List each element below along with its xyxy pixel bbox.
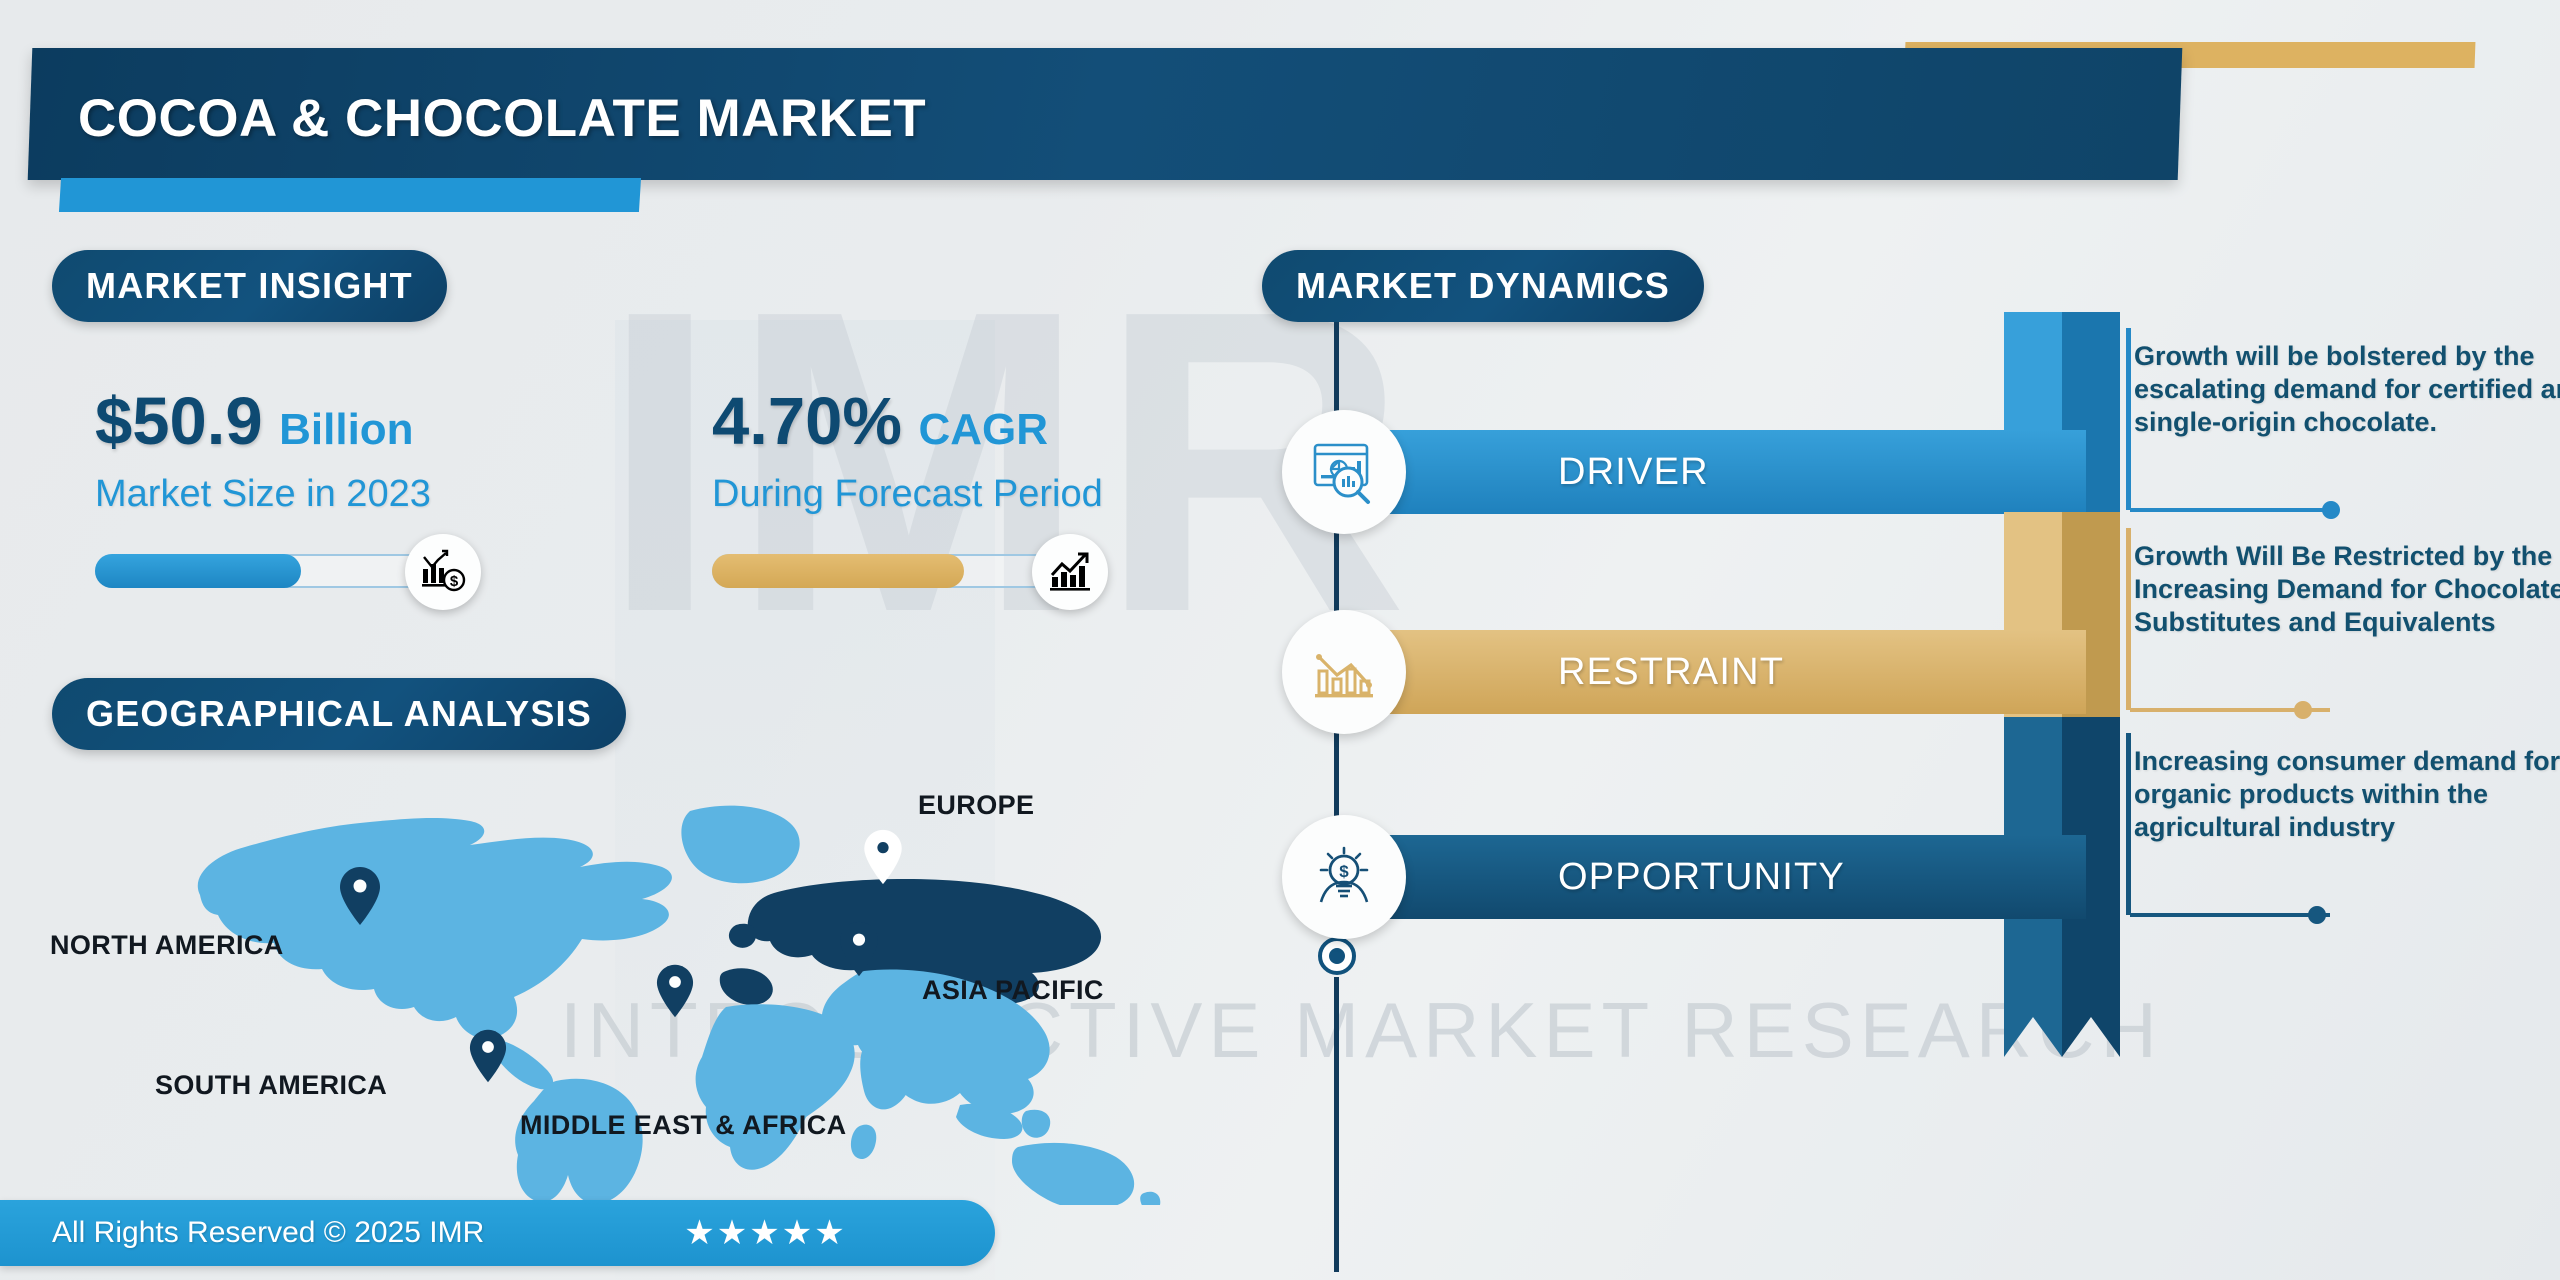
map-label-north-america: NORTH AMERICA [50, 930, 284, 961]
opportunity-description: Increasing consumer demand for organic p… [2134, 745, 2554, 844]
opportunity-underline [2130, 913, 2330, 917]
title-blue-accent [59, 178, 641, 212]
restraint-label: RESTRAINT [1558, 651, 1784, 694]
driver-line: single-origin chocolate. [2134, 406, 2554, 439]
map-label-europe: EUROPE [918, 790, 1034, 821]
driver-underline [2130, 508, 2330, 512]
infographic-canvas: IMR INTROSPECTIVE MARKET RESEARCH COCOA … [0, 0, 2560, 1280]
footer-bar: All Rights Reserved © 2025 IMR ★★★★★ [0, 1200, 995, 1266]
section-header-market-insight: MARKET INSIGHT [52, 250, 447, 322]
map-label-south-america: SOUTH AMERICA [155, 1070, 387, 1101]
market-size-progress-bar [95, 554, 435, 588]
driver-line: escalating demand for certified and [2134, 373, 2554, 406]
market-dynamics-timeline: DRIVER [1262, 322, 2560, 1280]
market-size-value: $50.9 [95, 384, 263, 459]
lightbulb-dollar-idea-icon: $ [1282, 815, 1406, 939]
restraint-underline-dot [2294, 701, 2312, 719]
cagr-caption: During Forecast Period [712, 473, 1103, 516]
map-label-middle-east-africa: MIDDLE EAST & AFRICA [520, 1110, 847, 1141]
driver-line: Growth will be bolstered by the [2134, 340, 2554, 373]
page-title: COCOA & CHOCOLATE MARKET [78, 88, 926, 149]
map-pin-middle-east-africa [655, 963, 695, 1019]
opportunity-underline-dot [2308, 906, 2326, 924]
bar-chart-dollar-icon: $ [405, 534, 481, 610]
market-size-unit: Billion [279, 405, 413, 454]
cagr-value: 4.70% [712, 384, 902, 459]
section-header-geographical-analysis: GEOGRAPHICAL ANALYSIS [52, 678, 626, 750]
driver-label: DRIVER [1558, 451, 1709, 494]
declining-bar-chart-icon [1282, 610, 1406, 734]
copyright-text: All Rights Reserved © 2025 IMR [52, 1216, 484, 1250]
svg-text:$: $ [450, 573, 459, 590]
growth-arrow-chart-icon [1032, 534, 1108, 610]
cagr-progress-bar [712, 554, 1052, 588]
opportunity-ribbon-bar: OPPORTUNITY [1336, 835, 2086, 919]
cagr-progress-fill [712, 554, 964, 588]
stat-market-size: $50.9 Billion Market Size in 2023 [95, 388, 431, 516]
driver-text-sidebar [2126, 328, 2131, 510]
restraint-line: Growth Will Be Restricted by the [2134, 540, 2554, 573]
dashboard-analytics-search-icon [1282, 410, 1406, 534]
map-pin-europe [862, 828, 904, 886]
restraint-ribbon-bar: RESTRAINT [1336, 630, 2086, 714]
map-label-asia-pacific: ASIA PACIFIC [922, 975, 1104, 1006]
driver-description: Growth will be bolstered by the escalati… [2134, 340, 2554, 439]
stat-cagr: 4.70% CAGR During Forecast Period [712, 388, 1103, 516]
opportunity-line: Increasing consumer demand for [2134, 745, 2554, 778]
map-pin-north-america [338, 865, 382, 927]
map-pin-south-america [468, 1028, 508, 1084]
restraint-line: Substitutes and Equivalents [2134, 606, 2554, 639]
opportunity-line: agricultural industry [2134, 811, 2554, 844]
opportunity-text-sidebar [2126, 733, 2131, 915]
driver-underline-dot [2322, 501, 2340, 519]
restraint-text-sidebar [2126, 528, 2131, 710]
cagr-unit: CAGR [918, 405, 1048, 454]
restraint-line: Increasing Demand for Chocolate [2134, 573, 2554, 606]
driver-ribbon-bar: DRIVER [1336, 430, 2086, 514]
market-size-caption: Market Size in 2023 [95, 473, 431, 516]
map-pin-asia-pacific [838, 920, 880, 978]
svg-text:$: $ [1339, 862, 1349, 881]
dynamics-row-opportunity[interactable]: OPPORTUNITY $ Incre [1262, 727, 2560, 1027]
opportunity-label: OPPORTUNITY [1558, 856, 1845, 899]
opportunity-line: organic products within the [2134, 778, 2554, 811]
section-header-market-dynamics: MARKET DYNAMICS [1262, 250, 1704, 322]
rating-stars: ★★★★★ [684, 1213, 846, 1253]
market-size-progress-fill [95, 554, 301, 588]
restraint-description: Growth Will Be Restricted by the Increas… [2134, 540, 2554, 639]
